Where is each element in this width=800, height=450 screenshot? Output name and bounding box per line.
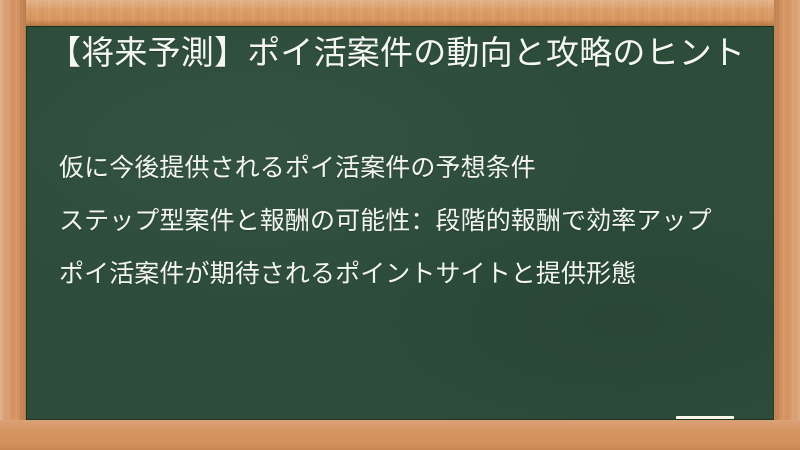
- chalkboard-content: 【将来予測】ポイ活案件の動向と攻略のヒント 仮に今後提供されるポイ活案件の予想条…: [27, 27, 773, 419]
- blackboard-card: 【将来予測】ポイ活案件の動向と攻略のヒント 仮に今後提供されるポイ活案件の予想条…: [0, 0, 800, 450]
- chalk-stick-icon: [676, 416, 734, 420]
- wooden-frame-top: [0, 0, 800, 26]
- wooden-frame-right: [774, 0, 800, 450]
- list-item: ポイ活案件が期待されるポイントサイトと提供形態: [59, 257, 747, 291]
- page-title: 【将来予測】ポイ活案件の動向と攻略のヒント: [48, 31, 748, 75]
- wooden-frame-bottom: [0, 420, 800, 450]
- list-item: 仮に今後提供されるポイ活案件の予想条件: [59, 151, 747, 185]
- wooden-frame-left: [0, 0, 26, 450]
- heading-list: 仮に今後提供されるポイ活案件の予想条件 ステップ型案件と報酬の可能性：段階的報酬…: [59, 151, 747, 291]
- list-item: ステップ型案件と報酬の可能性：段階的報酬で効率アップ: [59, 204, 747, 238]
- chalkboard-surface: 【将来予測】ポイ活案件の動向と攻略のヒント 仮に今後提供されるポイ活案件の予想条…: [26, 26, 774, 420]
